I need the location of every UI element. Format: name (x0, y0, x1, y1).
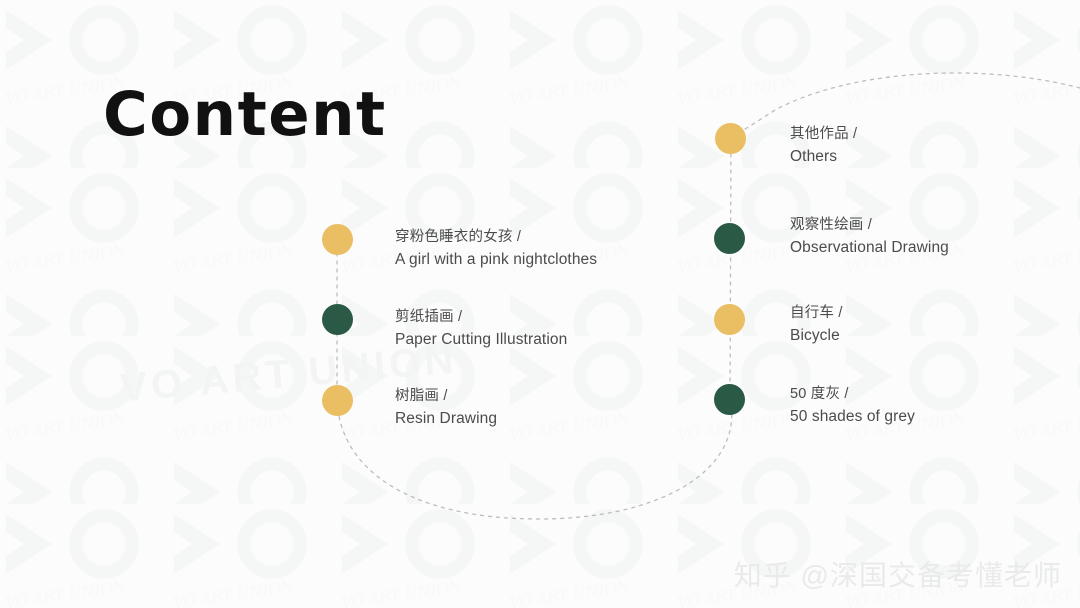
list-item-label-en: Bicycle (790, 325, 843, 348)
list-item-right-1: 其他作品 / Others (790, 124, 857, 169)
zhihu-watermark: 知乎 @深国交备考懂老师 (734, 554, 1062, 594)
timeline-dot-left-1[interactable] (322, 224, 353, 255)
list-item-left-2: 剪纸插画 / Paper Cutting Illustration (395, 307, 567, 352)
timeline-dot-right-1[interactable] (715, 123, 746, 154)
list-item-label-en: 50 shades of grey (790, 406, 915, 429)
list-item-right-2: 观察性绘画 / Observational Drawing (790, 215, 949, 260)
list-item-left-1: 穿粉色睡衣的女孩 / A girl with a pink nightcloth… (395, 227, 597, 272)
list-item-label-cn: 自行车 / (790, 303, 843, 324)
page-title: Content (103, 84, 387, 145)
timeline-dot-right-4[interactable] (714, 384, 745, 415)
list-item-right-3: 自行车 / Bicycle (790, 303, 843, 348)
list-item-label-en: Resin Drawing (395, 408, 497, 431)
timeline-dot-left-3[interactable] (322, 385, 353, 416)
list-item-label-cn: 其他作品 / (790, 124, 857, 145)
list-item-label-cn: 观察性绘画 / (790, 215, 949, 236)
list-item-label-en: Others (790, 146, 857, 169)
timeline-dot-right-2[interactable] (714, 223, 745, 254)
list-item-label-cn: 穿粉色睡衣的女孩 / (395, 227, 597, 248)
slide-canvas: VO ART UNION VO ART UNION VO ART UNION C… (0, 0, 1080, 608)
list-item-label-cn: 剪纸插画 / (395, 307, 567, 328)
timeline-dot-right-3[interactable] (714, 304, 745, 335)
list-item-label-en: Observational Drawing (790, 237, 949, 260)
list-item-label-en: Paper Cutting Illustration (395, 329, 567, 352)
list-item-right-4: 50 度灰 / 50 shades of grey (790, 384, 915, 429)
timeline-dot-left-2[interactable] (322, 304, 353, 335)
list-item-label-cn: 树脂画 / (395, 386, 497, 407)
list-item-label-cn: 50 度灰 / (790, 384, 915, 405)
list-item-left-3: 树脂画 / Resin Drawing (395, 386, 497, 431)
list-item-label-en: A girl with a pink nightclothes (395, 249, 597, 272)
